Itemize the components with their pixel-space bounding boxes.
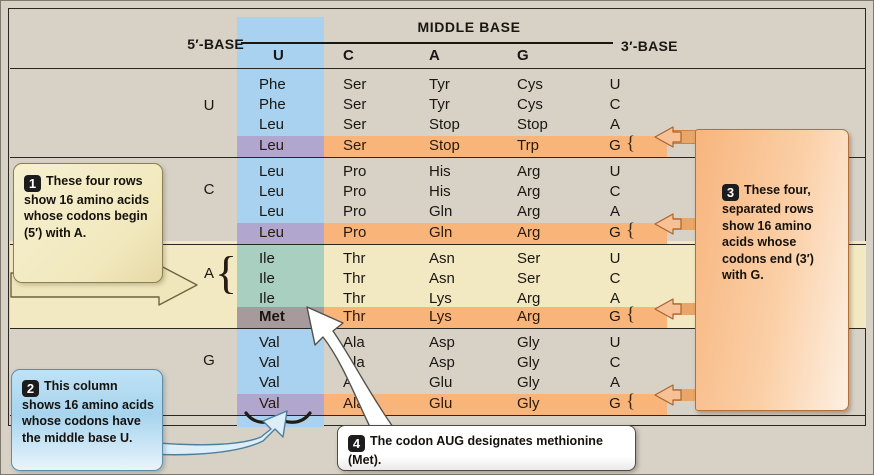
- codon-cell: Leu: [259, 137, 284, 154]
- codon-cell: Phe: [259, 96, 286, 113]
- five-base-label-u: U: [189, 97, 229, 114]
- g-row-brace: {: [626, 305, 635, 324]
- three-base-cell: A: [607, 203, 623, 220]
- codon-cell: Val: [259, 354, 280, 371]
- codon-cell: Stop: [517, 116, 548, 133]
- middle-base-letter-a: A: [429, 47, 440, 64]
- three-base-cell: U: [607, 163, 623, 180]
- callout-4-panel[interactable]: 4The codon AUG designates methionine (Me…: [337, 425, 636, 471]
- codon-cell: Arg: [517, 183, 540, 200]
- three-base-cell: C: [607, 354, 623, 371]
- callout-4-arrow: [281, 301, 411, 436]
- codon-cell: Gln: [429, 203, 452, 220]
- callout-1-text-container: 1These four rows show 16 amino acids who…: [24, 173, 152, 241]
- codon-cell: Ser: [343, 96, 366, 113]
- codon-cell: Ile: [259, 290, 275, 307]
- codon-cell: Leu: [259, 203, 284, 220]
- three-base-cell: C: [607, 270, 623, 287]
- three-base-cell: C: [607, 96, 623, 113]
- three-base-cell: U: [607, 334, 623, 351]
- codon-cell: Val: [259, 374, 280, 391]
- codon-cell: Thr: [343, 250, 366, 267]
- g-row-brace: {: [626, 134, 635, 153]
- codon-cell: Leu: [259, 116, 284, 133]
- callout-3-text-container: 3These four, separated rows show 16 amin…: [722, 182, 834, 284]
- codon-cell: Asp: [429, 354, 455, 371]
- three-base-cell: C: [607, 183, 623, 200]
- middle-base-letter-u: U: [273, 47, 284, 64]
- codon-cell: Pro: [343, 183, 366, 200]
- codon-cell: His: [429, 163, 451, 180]
- codon-cell: Ser: [343, 116, 366, 133]
- codon-cell: Asn: [429, 270, 455, 287]
- callout-2-panel[interactable]: 2This column shows 16 amino acids whose …: [11, 369, 163, 471]
- three-base-cell: A: [607, 374, 623, 391]
- callout-2-text-container: 2This column shows 16 amino acids whose …: [22, 378, 154, 446]
- three-base-cell: G: [607, 308, 623, 325]
- codon-cell: Stop: [429, 116, 460, 133]
- codon-cell: Ile: [259, 250, 275, 267]
- five-base-label-g: G: [189, 352, 229, 369]
- figure-frame: MIDDLE BASE 5′-BASE 3′-BASE U C A G U C …: [0, 0, 874, 475]
- codon-cell: Lys: [429, 290, 452, 307]
- three-base-cell: U: [607, 250, 623, 267]
- codon-cell: Cys: [517, 76, 543, 93]
- codon-cell: Arg: [517, 290, 540, 307]
- codon-cell: Arg: [517, 163, 540, 180]
- codon-cell: Tyr: [429, 76, 450, 93]
- codon-cell: Ser: [343, 76, 366, 93]
- g-row-brace: {: [626, 221, 635, 240]
- codon-cell: Pro: [343, 203, 366, 220]
- codon-cell: Tyr: [429, 96, 450, 113]
- g-row-brace: {: [626, 392, 635, 411]
- codon-cell: Asp: [429, 334, 455, 351]
- codon-cell: Gly: [517, 334, 540, 351]
- codon-cell: His: [429, 183, 451, 200]
- callout-1-badge: 1: [24, 175, 41, 192]
- codon-cell: Leu: [259, 224, 284, 241]
- codon-cell: Ser: [517, 250, 540, 267]
- three-base-cell: G: [607, 395, 623, 412]
- codon-cell: Thr: [343, 270, 366, 287]
- middle-base-letter-c: C: [343, 47, 354, 64]
- callout-4-text: The codon AUG designates methionine (Met…: [348, 434, 603, 467]
- three-base-cell: A: [607, 290, 623, 307]
- codon-cell: Glu: [429, 395, 452, 412]
- a-block-brace: {: [215, 250, 237, 296]
- callout-2-text: This column shows 16 amino acids whose c…: [22, 379, 154, 445]
- codon-cell: Stop: [429, 137, 460, 154]
- header-divider: [10, 68, 866, 69]
- codon-cell: Gly: [517, 374, 540, 391]
- callout-4-text-container: 4The codon AUG designates methionine (Me…: [348, 433, 626, 469]
- codon-cell: Ser: [517, 270, 540, 287]
- callout-3-badge: 3: [722, 184, 739, 201]
- three-prime-base-header: 3′-BASE: [621, 38, 678, 54]
- header-rule: [241, 42, 613, 44]
- codon-cell: Val: [259, 334, 280, 351]
- callout-4-badge: 4: [348, 435, 365, 452]
- callout-2-badge: 2: [22, 380, 39, 397]
- three-base-cell: U: [607, 76, 623, 93]
- codon-cell: Ser: [343, 137, 366, 154]
- codon-cell: Leu: [259, 183, 284, 200]
- middle-base-header: MIDDLE BASE: [324, 19, 614, 35]
- three-base-cell: G: [607, 224, 623, 241]
- middle-base-letter-g: G: [517, 47, 529, 64]
- codon-cell: Arg: [517, 308, 540, 325]
- callout-1-panel[interactable]: 1These four rows show 16 amino acids who…: [13, 163, 163, 283]
- codon-cell: Trp: [517, 137, 539, 154]
- five-base-label-c: C: [189, 181, 229, 198]
- codon-cell: Asn: [429, 250, 455, 267]
- codon-cell: Gly: [517, 354, 540, 371]
- three-base-cell: A: [607, 116, 623, 133]
- codon-cell: Cys: [517, 96, 543, 113]
- five-prime-base-header: 5′-BASE: [159, 36, 244, 52]
- codon-cell: Gly: [517, 395, 540, 412]
- three-base-cell: G: [607, 137, 623, 154]
- codon-cell: Arg: [517, 203, 540, 220]
- codon-cell: Gln: [429, 224, 452, 241]
- codon-cell: Ile: [259, 270, 275, 287]
- codon-cell: Leu: [259, 163, 284, 180]
- codon-cell: Phe: [259, 76, 286, 93]
- codon-cell: Pro: [343, 163, 366, 180]
- codon-cell: Lys: [429, 308, 452, 325]
- callout-3-panel[interactable]: 3These four, separated rows show 16 amin…: [695, 129, 849, 411]
- codon-cell: Pro: [343, 224, 366, 241]
- codon-cell: Arg: [517, 224, 540, 241]
- codon-cell: Glu: [429, 374, 452, 391]
- callout-1-text: These four rows show 16 amino acids whos…: [24, 174, 149, 240]
